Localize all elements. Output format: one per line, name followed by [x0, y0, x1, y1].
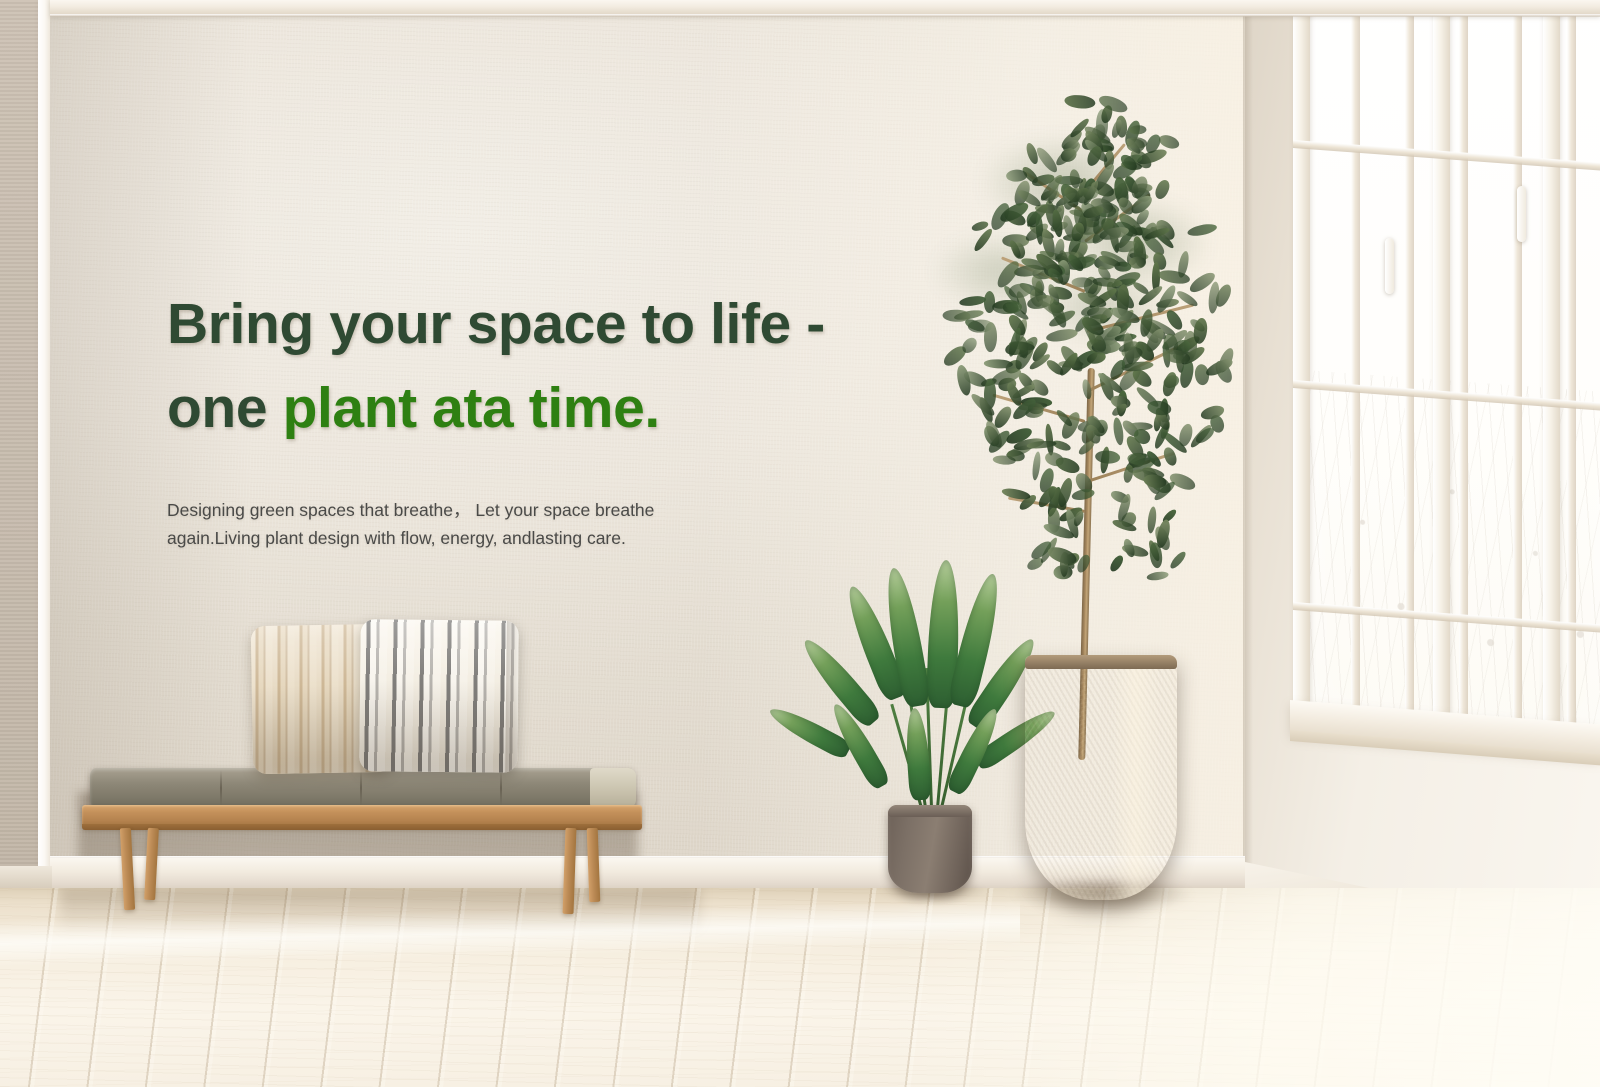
planter-highlight — [1111, 655, 1159, 900]
pillow-shading — [359, 619, 519, 773]
window-mullion-vertical — [1351, 0, 1360, 730]
hero-subcopy: Designing green spaces that breathe， Let… — [167, 496, 767, 553]
wood-floor — [0, 888, 1600, 1087]
tree-leaf — [993, 455, 1017, 466]
tree-leaf — [1146, 570, 1169, 581]
hero-scene: Bring your space to life - one plant ata… — [0, 0, 1600, 1087]
tree-leaf — [1044, 424, 1054, 456]
throw-pillow-right — [359, 619, 519, 773]
headline-line-2-dark: one — [167, 376, 283, 440]
tree-leaf — [1193, 426, 1216, 447]
small-plant-pot — [888, 805, 972, 893]
tree-leaf — [1053, 455, 1081, 476]
crown-molding-line — [50, 14, 1600, 17]
headline-line-2-highlight: plant ata time. — [283, 376, 660, 440]
window-frame-post — [1293, 0, 1310, 730]
tree-leaf — [1094, 450, 1120, 464]
window-mullion-vertical — [1567, 0, 1576, 730]
subcopy-line-2: again.Living plant design with flow, ene… — [167, 524, 767, 552]
large-planter-rim — [1025, 655, 1177, 669]
headline-line-1: Bring your space to life - — [167, 282, 927, 366]
window-handle[interactable] — [1385, 238, 1394, 294]
cushion-seam — [500, 770, 502, 806]
bench-leg — [587, 828, 601, 902]
small-plant-pot-rim — [888, 805, 972, 817]
pillow-edge — [505, 621, 519, 773]
cushion-seam — [220, 770, 222, 806]
bench-leg — [120, 828, 135, 910]
bench-cushion — [90, 768, 635, 808]
window-handle[interactable] — [1517, 186, 1526, 242]
tree-leaf — [1168, 550, 1187, 571]
subcopy-line-1: Designing green spaces that breathe， Let… — [167, 496, 767, 524]
tree-leaf — [1071, 488, 1096, 502]
tree-leaf — [1108, 554, 1126, 574]
window — [1255, 0, 1600, 730]
ficus-tree — [895, 90, 1255, 670]
bench-rail-lip — [82, 824, 642, 830]
cushion-seam — [360, 770, 362, 806]
hero-copy: Bring your space to life - one plant ata… — [167, 282, 927, 451]
tree-leaf — [1072, 277, 1093, 287]
headline-line-2: one plant ata time. — [167, 366, 927, 450]
tree-leaf — [1129, 124, 1146, 134]
window-mullion-vertical — [1405, 0, 1414, 730]
bench-cushion-end — [590, 768, 636, 808]
tree-leaf — [1056, 477, 1075, 509]
page-title: Bring your space to life - one plant ata… — [167, 282, 927, 451]
bench-leg — [144, 828, 159, 900]
floor-sunlight — [900, 888, 1600, 1087]
large-planter — [1025, 655, 1177, 900]
